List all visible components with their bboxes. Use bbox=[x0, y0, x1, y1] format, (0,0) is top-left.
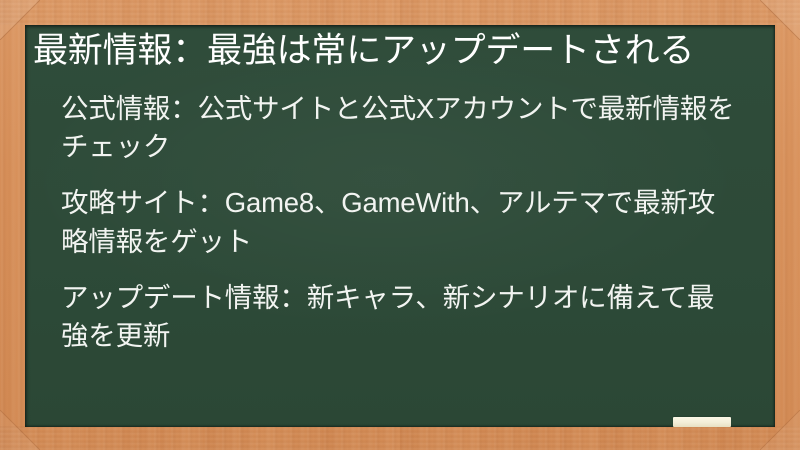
board-content: 最新情報：最強は常にアップデートされる 公式情報：公式サイトと公式Xアカウントで… bbox=[25, 25, 775, 356]
frame-rail-top bbox=[0, 0, 800, 25]
chalk-stick bbox=[673, 417, 731, 427]
board-point-update-info: アップデート情報：新キャラ、新シナリオに備えて最強を更新 bbox=[61, 279, 739, 357]
blackboard-frame: 最新情報：最強は常にアップデートされる 公式情報：公式サイトと公式Xアカウントで… bbox=[0, 0, 800, 450]
chalkboard-surface: 最新情報：最強は常にアップデートされる 公式情報：公式サイトと公式Xアカウントで… bbox=[25, 25, 775, 427]
frame-rail-bottom bbox=[0, 426, 800, 450]
board-points-list: 公式情報：公式サイトと公式Xアカウントで最新情報をチェック 攻略サイト：Game… bbox=[30, 90, 753, 357]
board-point-walkthrough-sites: 攻略サイト：Game8、GameWith、アルテマで最新攻略情報をゲット bbox=[61, 184, 739, 262]
board-title: 最新情報：最強は常にアップデートされる bbox=[30, 28, 753, 75]
board-point-official-info: 公式情報：公式サイトと公式Xアカウントで最新情報をチェック bbox=[61, 90, 739, 168]
